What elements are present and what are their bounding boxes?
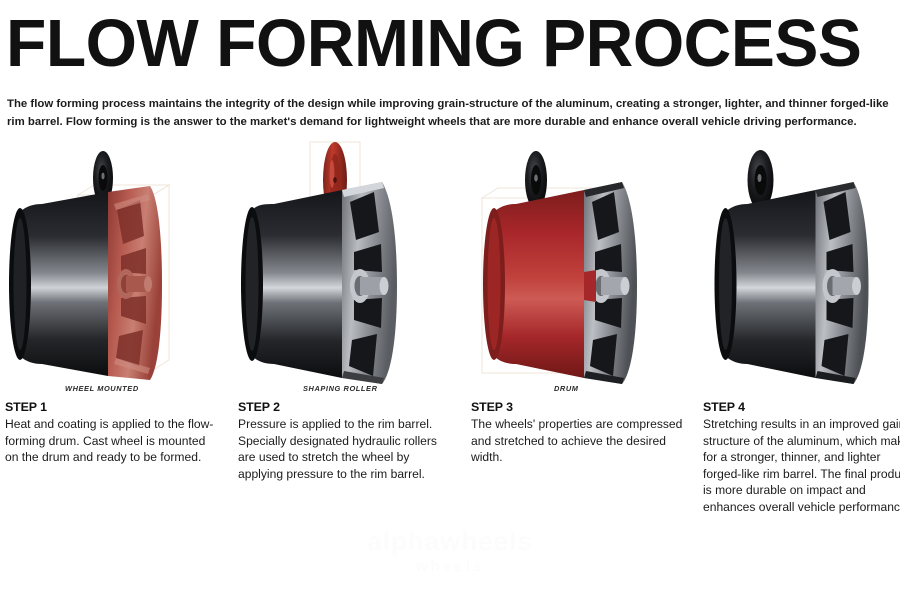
label-drum: DRUM	[554, 384, 579, 393]
wheel-spoke-face	[584, 182, 637, 384]
flow-forming-infographic: FLOW FORMING PROCESS The flow forming pr…	[0, 0, 900, 594]
intro-paragraph: The flow forming process maintains the i…	[7, 96, 893, 131]
figure-step-4	[690, 140, 900, 392]
watermark-line-1: alphawheels	[367, 526, 533, 556]
step-1-body: Heat and coating is applied to the flow-…	[5, 416, 220, 466]
step-2-title: STEP 2	[238, 400, 453, 414]
wheel-spoke-face	[816, 182, 869, 384]
watermark: alphawheels wheels	[0, 528, 900, 580]
step-1-title: STEP 1	[5, 400, 220, 414]
watermark-line-2: wheels	[0, 554, 900, 580]
step-2: STEP 2 Pressure is applied to the rim ba…	[238, 400, 453, 482]
page-title: FLOW FORMING PROCESS	[6, 8, 861, 80]
figure-step-3	[464, 140, 689, 392]
step-2-body: Pressure is applied to the rim barrel. S…	[238, 416, 453, 482]
wheel-barrel-red	[483, 190, 584, 378]
drum-red	[108, 186, 162, 380]
step-3: STEP 3 The wheels' properties are compre…	[471, 400, 686, 466]
label-shaping-roller: SHAPING ROLLER	[303, 384, 378, 393]
step-3-body: The wheels' properties are compressed an…	[471, 416, 686, 466]
figure-step-1	[0, 140, 225, 392]
wheel-barrel	[715, 190, 816, 378]
figures-row	[0, 140, 900, 392]
wheel-spoke-face	[342, 182, 397, 384]
step-3-title: STEP 3	[471, 400, 686, 414]
step-4: STEP 4 Stretching results in an improved…	[703, 400, 900, 516]
figure-step-2	[232, 140, 457, 392]
label-wheel-mounted: WHEEL MOUNTED	[65, 384, 139, 393]
wheel-barrel	[9, 192, 116, 376]
wheel-barrel	[241, 190, 342, 378]
step-4-body: Stretching results in an improved gain-s…	[703, 416, 900, 516]
step-4-title: STEP 4	[703, 400, 900, 414]
step-1: STEP 1 Heat and coating is applied to th…	[5, 400, 220, 466]
